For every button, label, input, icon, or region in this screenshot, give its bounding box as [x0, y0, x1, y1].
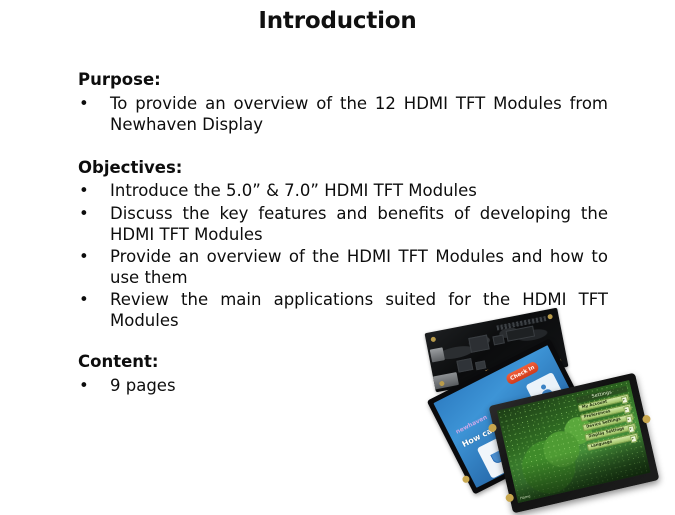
mounting-tab-icon	[642, 414, 652, 424]
chevron-right-icon: ▸	[627, 425, 634, 433]
list-item-label: To provide an overview of the 12 HDMI TF…	[110, 94, 608, 134]
list-item: • Discuss the key features and benefits …	[78, 203, 608, 245]
hdmi-connector-icon	[430, 347, 445, 362]
bullet-marker-icon: •	[79, 93, 89, 114]
chevron-right-icon: ▸	[620, 396, 627, 404]
mounting-hole-icon	[547, 314, 553, 320]
menu-item-label: Language	[590, 440, 612, 449]
foliage-screen: Settings My Account ▸ Preferences ▸ Devi…	[497, 380, 651, 503]
list-item-label: Introduce the 5.0” & 7.0” HDMI TFT Modul…	[110, 181, 477, 200]
mounting-tab-icon	[505, 493, 515, 503]
bullet-list-purpose: • To provide an overview of the 12 HDMI …	[78, 93, 608, 135]
section-heading-objectives: Objectives:	[78, 158, 608, 179]
chevron-right-icon: ▸	[625, 416, 632, 424]
product-photo: Check In newhaven How can we assist you?	[415, 312, 673, 504]
slide-root: Introduction Purpose: • To provide an ov…	[0, 0, 675, 506]
list-item: • To provide an overview of the 12 HDMI …	[78, 93, 608, 135]
mounting-tab-icon	[488, 423, 498, 433]
pcb-chip	[468, 335, 490, 353]
pcb-chip	[456, 358, 473, 373]
pcb-chip	[492, 334, 505, 345]
bullet-marker-icon: •	[79, 246, 89, 267]
mounting-tab-icon	[461, 475, 470, 484]
bullet-list-objectives: • Introduce the 5.0” & 7.0” HDMI TFT Mod…	[78, 180, 608, 331]
pcb-chip	[475, 360, 486, 370]
bullet-marker-icon: •	[79, 203, 89, 224]
list-item-label: Discuss the key features and benefits of…	[110, 204, 608, 244]
mounting-hole-icon	[430, 336, 436, 342]
list-item: • Introduce the 5.0” & 7.0” HDMI TFT Mod…	[78, 180, 608, 201]
spacer	[78, 136, 608, 158]
list-item: • Provide an overview of the HDMI TFT Mo…	[78, 246, 608, 288]
bullet-marker-icon: •	[79, 289, 89, 310]
page-title: Introduction	[0, 8, 675, 34]
chevron-right-icon: ▸	[623, 406, 630, 414]
bullet-marker-icon: •	[79, 180, 89, 201]
section-heading-purpose: Purpose:	[78, 70, 608, 91]
list-item-label: 9 pages	[110, 376, 176, 395]
list-item-label: Provide an overview of the HDMI TFT Modu…	[110, 247, 608, 287]
chevron-right-icon: ▸	[629, 435, 636, 443]
bullet-marker-icon: •	[79, 375, 89, 396]
